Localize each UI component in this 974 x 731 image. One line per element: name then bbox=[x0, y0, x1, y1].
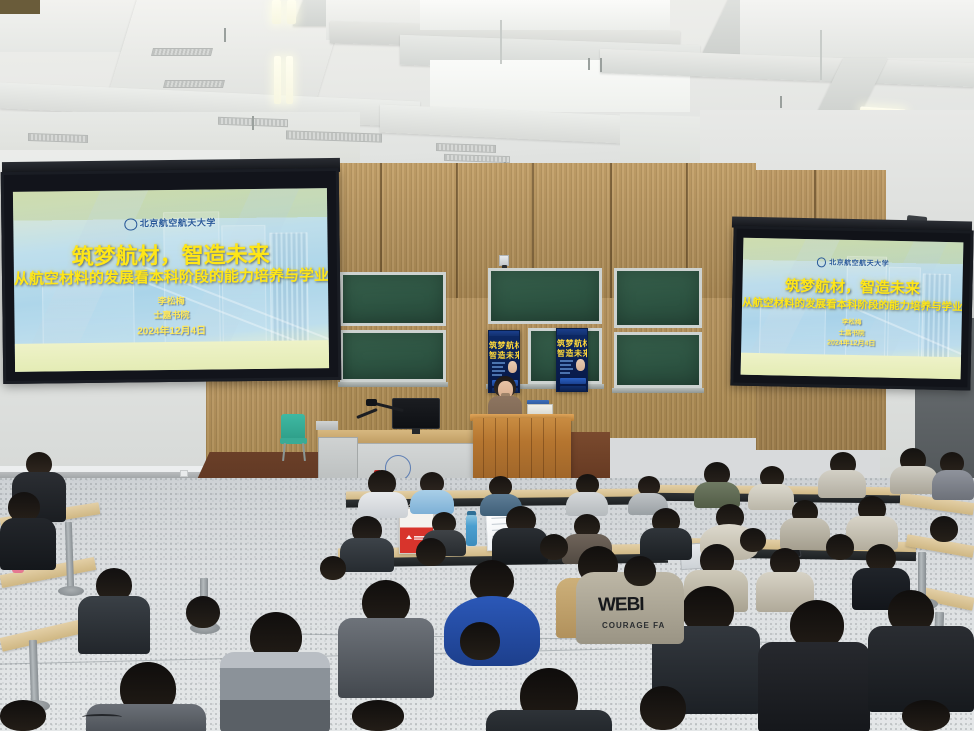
student-torso bbox=[932, 470, 974, 500]
podium-slat bbox=[555, 418, 556, 478]
speaker-podium bbox=[473, 418, 571, 478]
desk-foot bbox=[58, 586, 84, 596]
lecture-hall-photo: 筑梦航材 智造未来 筑梦航材 智造未来 北京航空航天大学 筑梦航材， bbox=[0, 0, 974, 731]
side-equipment-box bbox=[316, 421, 338, 430]
chalkboard-panel bbox=[614, 332, 702, 388]
wood-seam bbox=[610, 163, 612, 298]
slide-logo-text: 北京航空航天大学 bbox=[829, 260, 889, 268]
wood-seam bbox=[456, 163, 458, 298]
student-head bbox=[930, 516, 958, 542]
document-camera-icon bbox=[366, 399, 377, 406]
slide-subtitle: 从航空材料的发展看本科阶段的能力培养与学业规划 bbox=[14, 264, 328, 289]
podium-slat bbox=[495, 418, 496, 478]
slide-bottom-strip bbox=[15, 340, 329, 372]
poster-headline-2: 智造未来 bbox=[557, 349, 587, 358]
student-torso bbox=[890, 466, 938, 494]
podium-slat bbox=[543, 418, 544, 478]
ceiling-vent bbox=[444, 154, 510, 163]
ceiling-light bbox=[274, 56, 281, 104]
ceiling-vent bbox=[436, 143, 496, 153]
student-head bbox=[826, 534, 854, 560]
chalk-rail bbox=[612, 388, 704, 393]
poster-headline-1: 筑梦航材 bbox=[489, 341, 519, 350]
ceiling-vent bbox=[151, 48, 213, 56]
poster-text-line bbox=[492, 366, 503, 368]
ceiling-hanger bbox=[600, 58, 602, 72]
secondary-slide: 北京航空航天大学 筑梦航材，智造未来 从航空材料的发展看本科阶段的能力培养与学业… bbox=[741, 238, 964, 380]
student-head bbox=[186, 596, 220, 628]
student-torso bbox=[758, 642, 870, 731]
slide-logo-text: 北京航空航天大学 bbox=[140, 217, 216, 228]
student-head bbox=[624, 556, 656, 586]
seal-icon bbox=[817, 258, 827, 268]
poster-info-chip bbox=[560, 378, 586, 384]
chalkboard-panel bbox=[340, 330, 446, 382]
hoodie-sub-text: COURAGE FA bbox=[602, 621, 682, 631]
ceiling-joint bbox=[820, 30, 822, 80]
student-torso bbox=[0, 518, 56, 570]
ceiling-hanger bbox=[780, 96, 782, 108]
wall-socket bbox=[180, 470, 188, 477]
ceiling-light bbox=[286, 56, 293, 104]
student-torso bbox=[868, 626, 974, 712]
poster-text-line bbox=[560, 368, 573, 370]
student-head bbox=[0, 700, 46, 731]
student-torso bbox=[486, 710, 612, 731]
poster-text-line bbox=[492, 370, 505, 372]
seal-icon bbox=[125, 218, 137, 230]
student-head bbox=[640, 686, 686, 730]
student-torso bbox=[340, 538, 394, 572]
poster-portrait bbox=[508, 361, 517, 373]
ceiling-light bbox=[272, 0, 281, 24]
student-head bbox=[320, 556, 346, 580]
student-head bbox=[740, 528, 766, 552]
poster-portrait bbox=[576, 359, 585, 371]
ceiling-edge bbox=[0, 0, 40, 14]
ceiling-light bbox=[287, 0, 296, 24]
poster-header-band bbox=[557, 329, 587, 335]
podium-slat bbox=[519, 418, 520, 478]
ceiling-vent bbox=[163, 80, 225, 88]
student-head bbox=[352, 700, 404, 731]
event-poster-right: 筑梦航材 智造未来 bbox=[556, 328, 588, 392]
poster-headline-1: 筑梦航材 bbox=[557, 339, 587, 348]
ceiling-hanger bbox=[588, 58, 590, 70]
slide-bottom-strip bbox=[741, 353, 961, 380]
eyeglasses-icon bbox=[82, 714, 122, 720]
main-slide: 北京航空航天大学 筑梦航材，智造未来 从航空材料的发展看本科阶段的能力培养与学业… bbox=[13, 188, 329, 372]
poster-header-band bbox=[489, 331, 519, 336]
student-torso bbox=[358, 492, 408, 518]
student-torso bbox=[566, 492, 608, 516]
poster-text-line bbox=[492, 374, 502, 376]
blue-water-bottle bbox=[466, 515, 477, 546]
student-torso bbox=[220, 652, 330, 731]
poster-text-line bbox=[560, 364, 571, 366]
podium-slat bbox=[483, 418, 484, 478]
monitor-stand bbox=[412, 428, 420, 434]
poster-text-line bbox=[560, 360, 573, 362]
student-head bbox=[540, 534, 568, 560]
hoodie-brand-text: WEBI bbox=[598, 593, 688, 617]
student-torso bbox=[338, 618, 434, 698]
ceiling-panel bbox=[740, 0, 974, 58]
student-head bbox=[460, 622, 500, 660]
poster-headline-2: 智造未来 bbox=[489, 351, 519, 360]
podium-slat bbox=[531, 418, 532, 478]
poster-text-line bbox=[492, 362, 505, 364]
poster-footer bbox=[560, 386, 586, 392]
ceiling-panel bbox=[420, 0, 670, 30]
student-torso bbox=[780, 518, 830, 550]
green-chair bbox=[281, 414, 305, 440]
ceiling-hanger bbox=[252, 116, 254, 130]
chalkboard-panel bbox=[488, 268, 602, 324]
lectern-monitor bbox=[392, 398, 440, 429]
poster-text-line bbox=[560, 372, 570, 374]
chalkboard-panel bbox=[614, 268, 702, 328]
student-torso bbox=[818, 470, 866, 498]
ceiling-hanger bbox=[224, 28, 226, 42]
ceiling-joint bbox=[500, 20, 502, 64]
chalkboard-panel bbox=[340, 272, 446, 326]
student-torso bbox=[78, 596, 150, 654]
student-torso bbox=[640, 528, 692, 560]
student-head bbox=[416, 538, 446, 566]
student-head bbox=[902, 700, 950, 731]
chalk-rail bbox=[338, 382, 448, 387]
student-torso bbox=[748, 484, 794, 510]
student-torso bbox=[410, 490, 454, 514]
podium-slat bbox=[507, 418, 508, 478]
